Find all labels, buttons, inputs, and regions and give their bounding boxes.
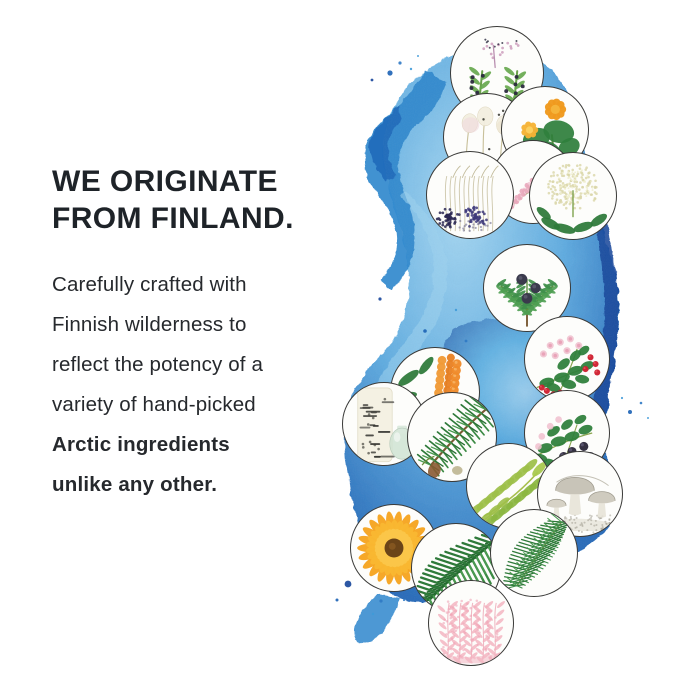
body-line-5: Arctic ingredients	[52, 425, 352, 465]
body-line-4: variety of hand-picked	[52, 385, 352, 425]
body-line-3: reflect the potency of a	[52, 345, 352, 385]
splatter-dot	[379, 599, 382, 602]
body-line-6: unlike any other.	[52, 465, 352, 505]
meadowsweet-icon	[530, 153, 616, 239]
splatter-dot	[336, 599, 339, 602]
lingonberry-icon	[525, 317, 609, 401]
splatter-dot	[345, 581, 352, 588]
body-line-1: Carefully crafted with	[52, 265, 352, 305]
splatter-dot	[387, 70, 392, 75]
poster-canvas: WE ORIGINATE FROM FINLAND. Carefully cra…	[0, 0, 679, 679]
splatter-dot	[403, 599, 405, 601]
splatter-dot	[371, 79, 374, 82]
page-title: WE ORIGINATE FROM FINLAND.	[52, 163, 352, 237]
splatter-dot	[647, 417, 649, 419]
splatter-dot	[410, 68, 412, 70]
fir-branch-icon	[491, 510, 577, 596]
body-copy: Carefully crafted withFinnish wilderness…	[52, 265, 352, 505]
ingredient-circle-fir-branch	[490, 509, 578, 597]
splatter-dot	[628, 410, 632, 414]
text-panel: WE ORIGINATE FROM FINLAND. Carefully cra…	[52, 163, 352, 505]
pink-grass-icon	[429, 581, 513, 665]
splatter-dot	[640, 402, 643, 405]
ingredient-circle-meadowsweet	[529, 152, 617, 240]
splatter-dot	[417, 55, 419, 57]
ingredient-circle-blueberry-grass	[426, 151, 514, 239]
splatter-dot	[398, 61, 401, 64]
splatter-dot	[423, 329, 427, 333]
ingredient-circle-pink-grass	[428, 580, 514, 666]
blueberry-grass-icon	[427, 152, 513, 238]
splatter-dot	[378, 297, 381, 300]
body-line-2: Finnish wilderness to	[52, 305, 352, 345]
splatter-dot	[465, 340, 468, 343]
splatter-dot	[372, 613, 374, 615]
splatter-dot	[455, 309, 457, 311]
splatter-dot	[621, 397, 623, 399]
